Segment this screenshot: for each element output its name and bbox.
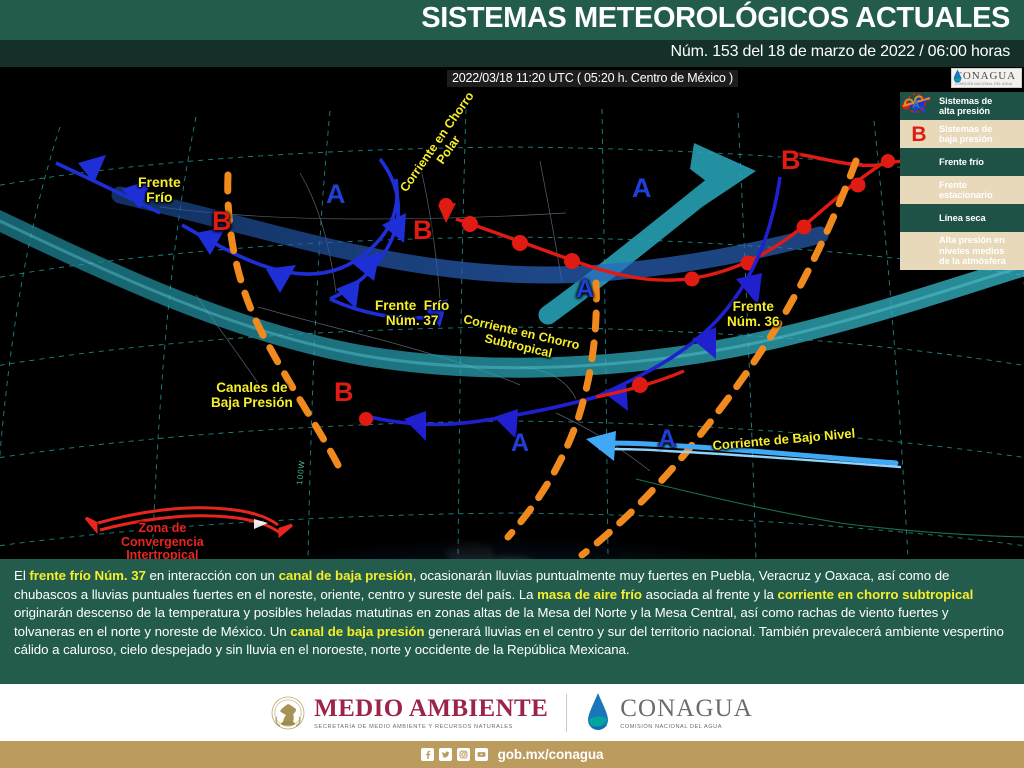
agency-logo: CONAGUA COMISIÓN NACIONAL DEL AGUA <box>585 692 753 734</box>
ministry-logo: MEDIO AMBIENTE SECRETARÍA DE MEDIO AMBIE… <box>271 693 548 733</box>
map-basemap: 100W <box>0 67 1024 559</box>
conagua-wave-icon <box>585 692 611 734</box>
forecast-highlight: frente frío Núm. 37 <box>29 568 146 583</box>
page-title: SISTEMAS METEOROLÓGICOS ACTUALES <box>421 2 1010 35</box>
svg-text:A: A <box>912 99 920 111</box>
twitter-icon[interactable] <box>439 748 452 761</box>
map-conagua-logo: CONAGUA COMISIÓN NACIONAL DEL AGUA <box>951 68 1022 88</box>
ministry-subtitle: SECRETARÍA DE MEDIO AMBIENTE Y RECURSOS … <box>314 724 548 730</box>
facebook-icon[interactable] <box>421 748 434 761</box>
header-subtitle-bar: Núm. 153 del 18 de marzo de 2022 / 06:00… <box>0 40 1024 67</box>
satellite-weather-map[interactable]: 100W <box>0 67 1024 559</box>
legend-label-4: Línea seca <box>938 210 989 227</box>
legend-label-0: Sistemas de alta presión <box>938 93 995 120</box>
legend-icon-cell-4 <box>900 204 938 232</box>
map-logo-name: CONAGUA <box>955 71 1016 82</box>
footer-logos: MEDIO AMBIENTE SECRETARÍA DE MEDIO AMBIE… <box>0 684 1024 741</box>
forecast-highlight: corriente en chorro subtropical <box>778 587 974 602</box>
legend-label-5: Alta presión en niveles medios de la atm… <box>938 232 1009 270</box>
legend-icon-cell-5: A <box>900 237 938 265</box>
ministry-name: MEDIO AMBIENTE <box>314 696 548 721</box>
map-logo-sub: COMISIÓN NACIONAL DEL AGUA <box>955 82 1016 86</box>
forecast-highlight: canal de baja presión <box>290 624 424 639</box>
bulletin-number-date: Núm. 153 del 18 de marzo de 2022 / 06:00… <box>671 43 1010 61</box>
legend-label-1: Sistemas de baja presión <box>938 121 996 148</box>
legend-row-3[interactable]: Frente estacionario <box>900 176 1024 204</box>
forecast-highlight: canal de baja presión <box>279 568 413 583</box>
legend-icon-cell-1: B <box>900 120 938 148</box>
legend-row-1[interactable]: BSistemas de baja presión <box>900 120 1024 148</box>
forecast-text-panel: El frente frío Núm. 37 en interacción co… <box>0 559 1024 684</box>
forecast-highlight: masa de aire frío <box>537 587 642 602</box>
footer-social-bar: gob.mx/conagua <box>0 741 1024 768</box>
agency-name: CONAGUA <box>620 696 753 721</box>
footer-url[interactable]: gob.mx/conagua <box>498 747 604 762</box>
legend-icon-cell-3 <box>900 176 938 204</box>
map-legend[interactable]: ASistemas de alta presiónBSistemas de ba… <box>900 92 1024 270</box>
legend-label-2: Frente frío <box>938 154 987 171</box>
legend-label-3: Frente estacionario <box>938 177 996 204</box>
legend-row-4[interactable]: Línea seca <box>900 204 1024 232</box>
weather-bulletin-page: SISTEMAS METEOROLÓGICOS ACTUALES Núm. 15… <box>0 0 1024 768</box>
low-pressure-icon: B <box>911 124 926 145</box>
mexican-coat-of-arms-icon <box>271 693 305 733</box>
forecast-paragraph: El frente frío Núm. 37 en interacción co… <box>14 567 1010 660</box>
mid-level-high-icon: A <box>900 92 932 114</box>
instagram-icon[interactable] <box>457 748 470 761</box>
agency-subtitle: COMISIÓN NACIONAL DEL AGUA <box>620 724 753 730</box>
legend-icon-cell-2 <box>900 148 938 176</box>
youtube-icon[interactable] <box>475 748 488 761</box>
conagua-wave-icon <box>952 69 963 83</box>
legend-row-2[interactable]: Frente frío <box>900 148 1024 176</box>
header-title-bar: SISTEMAS METEOROLÓGICOS ACTUALES <box>0 0 1024 40</box>
footer-divider <box>566 694 567 732</box>
legend-row-5[interactable]: AAlta presión en niveles medios de la at… <box>900 232 1024 270</box>
map-timestamp: 2022/03/18 11:20 UTC ( 05:20 h. Centro d… <box>447 70 738 87</box>
